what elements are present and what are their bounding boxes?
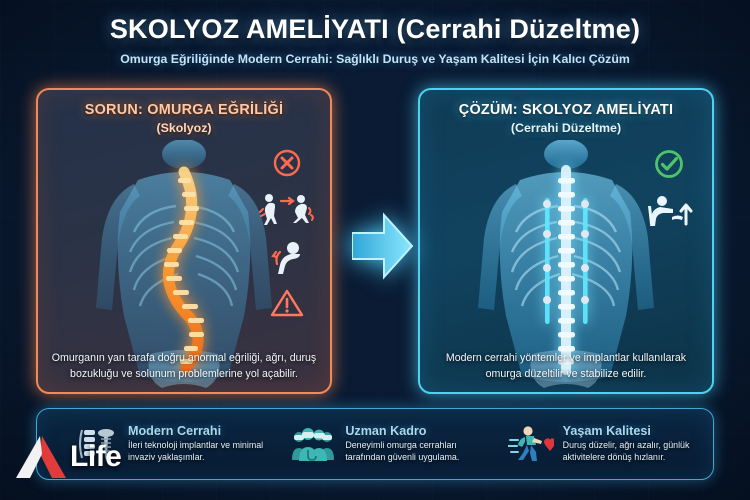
feature-description: Duruş düzelir, ağrı azalır, günlük aktiv… <box>563 440 705 463</box>
feature-title: Modern Cerrahi <box>128 424 270 438</box>
feature-title: Uzman Kadro <box>345 424 487 438</box>
problem-panel-subtitle: (Skolyoz) <box>38 121 330 135</box>
hunched-posture-icon <box>266 240 308 274</box>
green-check-circle-icon <box>653 148 685 180</box>
solution-panel-title: ÇÖZÜM: SKOLYOZ AMELİYATI <box>420 102 712 118</box>
infographic-canvas: SKOLYOZ AMELİYATI (Cerrahi Düzeltme) Omu… <box>0 0 750 500</box>
feature-description: İleri teknoloji implantlar ve minimal in… <box>128 440 270 463</box>
x-circle-icon <box>272 148 302 178</box>
feature-title: Yaşam Kalitesi <box>563 424 705 438</box>
surgical-team-icon <box>290 422 336 466</box>
a-triangle-logo-mark <box>12 432 68 482</box>
logo-wordmark: Life <box>70 440 121 474</box>
feature-text: Yaşam Kalitesi Duruş düzelir, ağrı azalı… <box>563 424 705 463</box>
problem-panel: SORUN: OMURGA EĞRİLİĞİ (Skolyoz) <box>36 88 332 394</box>
page-title: SKOLYOZ AMELİYATI (Cerrahi Düzeltme) <box>0 14 750 45</box>
solution-panel-header: ÇÖZÜM: SKOLYOZ AMELİYATI (Cerrahi Düzelt… <box>420 102 712 135</box>
problem-caption: Omurganın yan tarafa doğru anormal eğril… <box>48 351 320 382</box>
brand-logo: Life <box>12 432 121 482</box>
problem-icon-column <box>256 148 318 318</box>
recovery-support-icon <box>642 194 696 228</box>
problem-panel-title: SORUN: OMURGA EĞRİLİĞİ <box>38 102 330 118</box>
back-pain-figures-icon <box>259 192 315 226</box>
running-person-heart-icon <box>508 422 554 466</box>
header: SKOLYOZ AMELİYATI (Cerrahi Düzeltme) Omu… <box>0 14 750 66</box>
right-arrow-icon <box>352 205 414 287</box>
solution-panel: ÇÖZÜM: SKOLYOZ AMELİYATI (Cerrahi Düzelt… <box>418 88 714 394</box>
solution-caption: Modern cerrahi yöntemler ve implantlar k… <box>430 351 702 382</box>
solution-icon-column <box>638 148 700 228</box>
problem-panel-header: SORUN: OMURGA EĞRİLİĞİ (Skolyoz) <box>38 102 330 135</box>
feature-description: Deneyimli omurga cerrahları tarafından g… <box>345 440 487 463</box>
feature-item-quality-of-life: Yaşam Kalitesi Duruş düzelir, ağrı azalı… <box>496 422 713 466</box>
feature-bar: Modern Cerrahi İleri teknoloji implantla… <box>36 408 714 480</box>
feature-text: Uzman Kadro Deneyimli omurga cerrahları … <box>345 424 487 463</box>
feature-text: Modern Cerrahi İleri teknoloji implantla… <box>128 424 270 463</box>
solution-panel-subtitle: (Cerrahi Düzeltme) <box>420 121 712 135</box>
feature-item-expert-team: Uzman Kadro Deneyimli omurga cerrahları … <box>278 422 495 466</box>
page-subtitle: Omurga Eğriliğinde Modern Cerrahi: Sağlı… <box>0 52 750 66</box>
warning-triangle-icon <box>270 288 304 318</box>
